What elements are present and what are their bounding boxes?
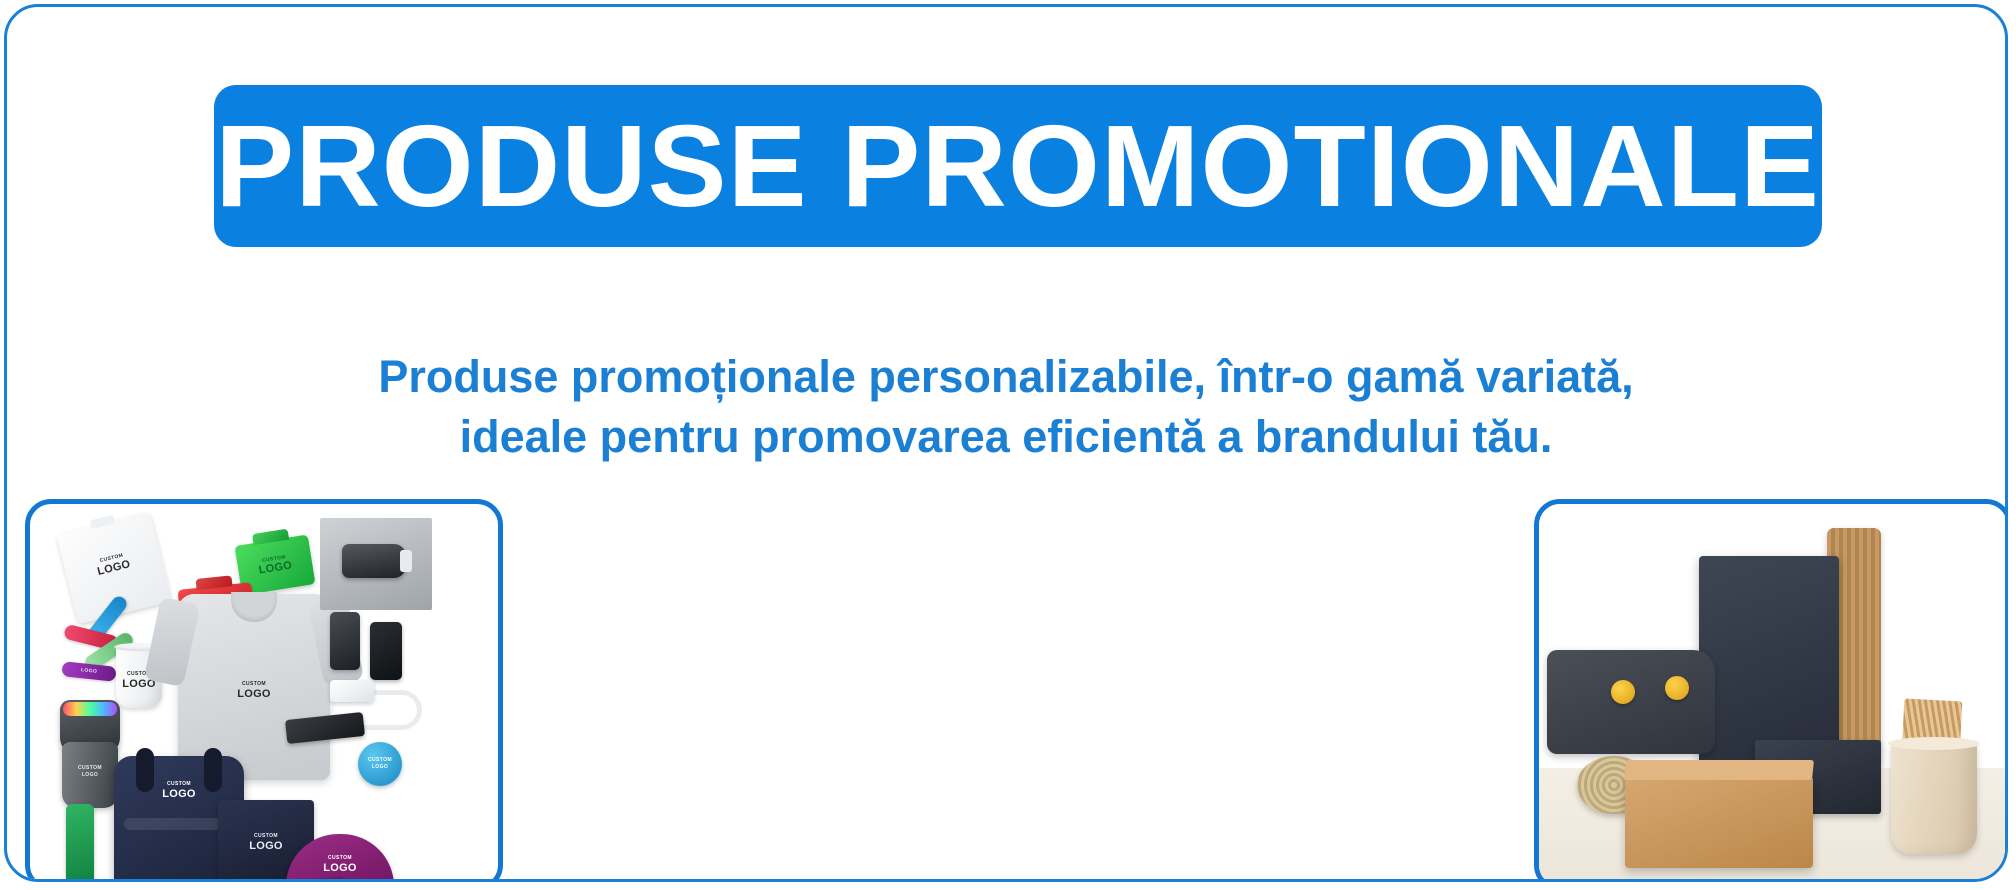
yellow-button: [1665, 676, 1689, 700]
imprint-logo: LOGO: [238, 557, 313, 579]
imprint-custom: CUSTOM: [62, 766, 118, 771]
imprint-custom: CUSTOM: [218, 834, 314, 839]
imprint-logo: LOGO: [66, 552, 162, 586]
kraft-paper-cup: [1891, 742, 1977, 854]
key-shaped-tag: [66, 804, 94, 882]
silicone-wristband: LOGO: [61, 661, 116, 682]
denim-apron: [1547, 650, 1715, 754]
subtitle: Produse promoționale personalizabile, în…: [7, 347, 2005, 467]
imprint-logo: LOGO: [114, 789, 244, 800]
subtitle-line-1: Produse promoționale personalizabile, în…: [7, 347, 2005, 407]
phone: [370, 622, 402, 680]
imprint-custom: CUSTOM: [358, 758, 402, 763]
promotional-products-collage: CUSTOM LOGO CUSTOM LOGO CUSTOM LOGO LOGO…: [30, 504, 498, 882]
keychain-round: CUSTOM LOGO: [358, 742, 402, 786]
polo-collar: [231, 592, 277, 622]
bike-light: [342, 544, 406, 578]
imprint-custom: CUSTOM: [237, 551, 311, 568]
usb-flash-drive-white: [330, 680, 374, 702]
imprint-custom: CUSTOM: [65, 545, 159, 573]
title-banner: PRODUSE PROMOTIONALE: [214, 85, 1822, 247]
power-bank: [330, 612, 360, 670]
imprint-logo: LOGO: [286, 863, 394, 874]
bike-light-photo: [320, 518, 432, 610]
imprint-custom: CUSTOM: [114, 782, 244, 787]
imprint-custom: CUSTOM: [286, 856, 394, 861]
travel-tumbler: CUSTOM LOGO: [62, 742, 118, 808]
imprint-logo: LOGO: [62, 773, 118, 778]
imprint-custom: CUSTOM: [178, 682, 330, 687]
imprint-logo: LOGO: [62, 666, 116, 677]
product-image-left: CUSTOM LOGO CUSTOM LOGO CUSTOM LOGO LOGO…: [25, 499, 503, 882]
yellow-button: [1611, 680, 1635, 704]
imprint-logo: LOGO: [178, 689, 330, 700]
promo-card: PRODUSE PROMOTIONALE Produse promoțional…: [4, 4, 2008, 882]
polo-shirt: CUSTOM LOGO: [178, 594, 330, 780]
subtitle-line-2: ideale pentru promovarea eficientă a bra…: [7, 407, 2005, 467]
polo-sleeve-left: [144, 597, 201, 687]
denim-board: [1699, 556, 1839, 770]
backpack-strap: [136, 748, 154, 792]
page-title: PRODUSE PROMOTIONALE: [216, 108, 1821, 224]
product-image-right: [1534, 499, 2008, 882]
backpack-strap: [204, 748, 222, 792]
kraft-gift-box: [1625, 776, 1813, 868]
imprint-logo: LOGO: [358, 765, 402, 770]
eco-friendly-products: [1539, 504, 2007, 882]
